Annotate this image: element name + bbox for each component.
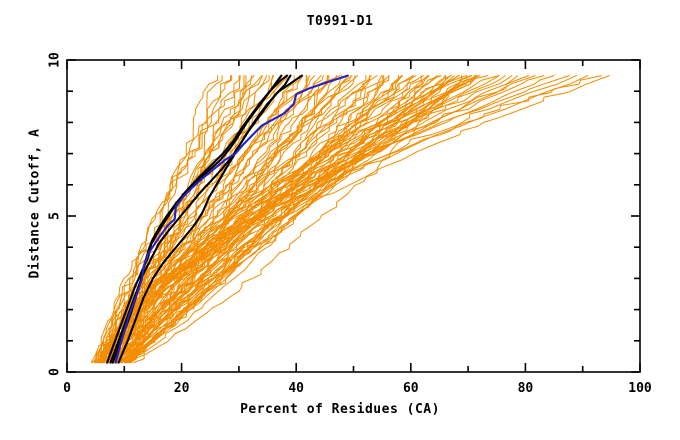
x-tick-label: 0 [63, 381, 71, 396]
x-tick-label: 40 [288, 381, 304, 396]
x-tick-label: 60 [403, 381, 419, 396]
prediction-curve [95, 76, 222, 363]
x-axis-label: Percent of Residues (CA) [0, 402, 680, 417]
x-tick-label: 20 [174, 381, 190, 396]
y-tick-label: 5 [48, 212, 63, 220]
series-all-predictions [91, 76, 609, 363]
x-tick-label: 100 [628, 381, 652, 396]
x-tick-label: 80 [518, 381, 534, 396]
y-tick-label: 10 [48, 52, 63, 68]
y-axis-label: Distance Cutoff, A [28, 94, 43, 314]
chart-figure: T0991-D1 0204060801000510 Percent of Res… [0, 0, 680, 440]
plot-canvas: 0204060801000510 [0, 0, 680, 440]
y-tick-label: 0 [48, 368, 63, 376]
